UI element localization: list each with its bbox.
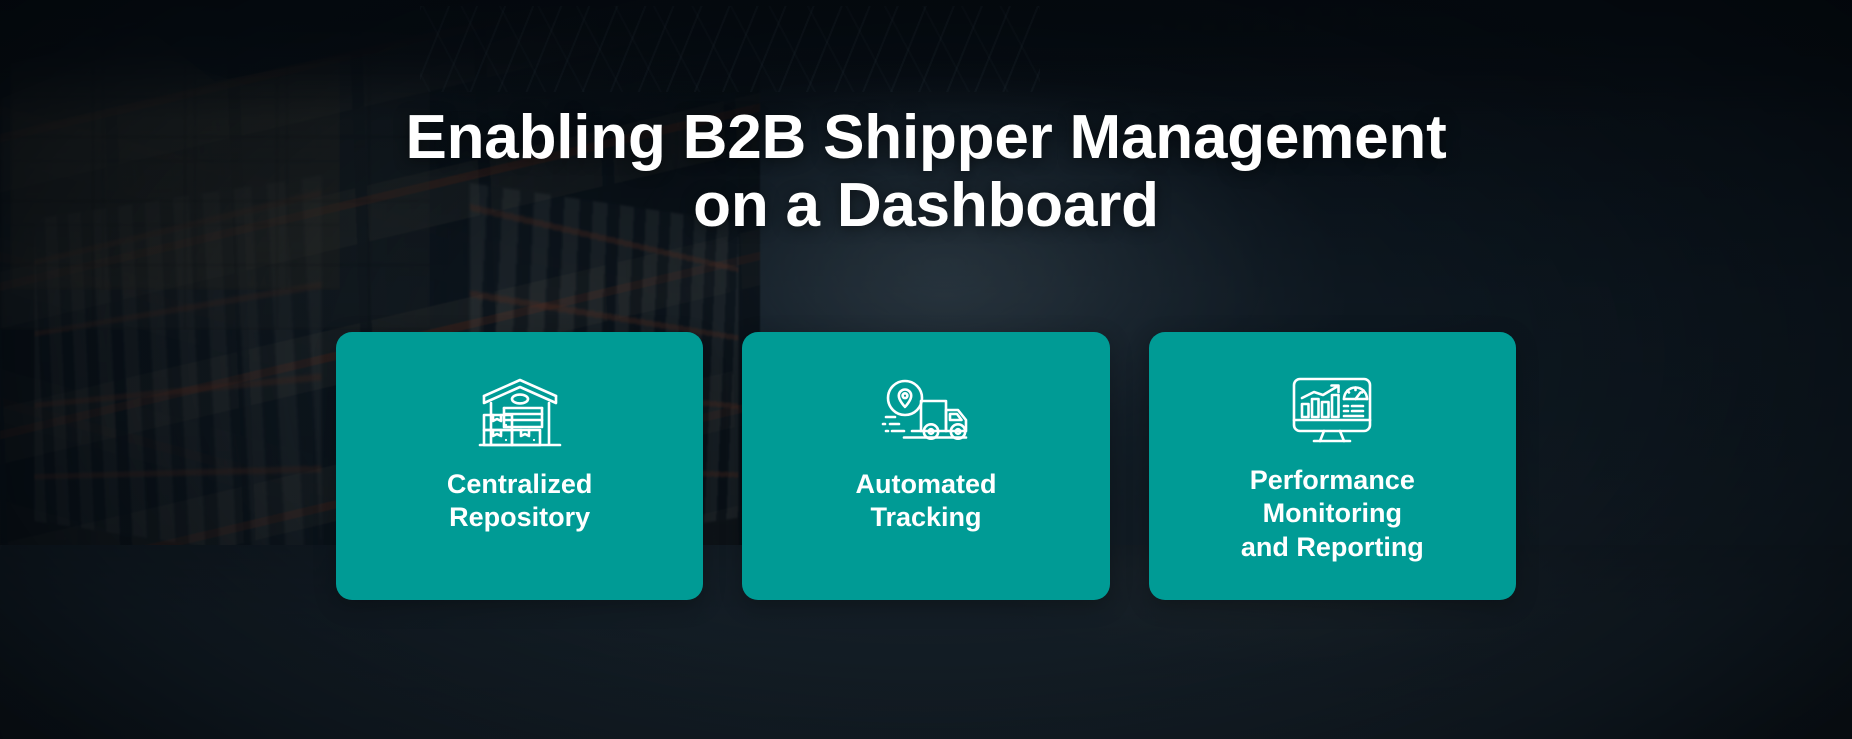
page-title-line-2: on a Dashboard	[0, 172, 1852, 240]
page-title: Enabling B2B Shipper Management on a Das…	[0, 104, 1852, 240]
hero-banner: Enabling B2B Shipper Management on a Das…	[0, 0, 1852, 739]
dashboard-monitor-analytics-icon	[1284, 370, 1380, 454]
feature-card-performance-monitoring[interactable]: Performance Monitoring and Reporting	[1149, 332, 1516, 600]
feature-card-label: Performance Monitoring and Reporting	[1227, 464, 1438, 564]
feature-card-label: Automated Tracking	[841, 468, 1010, 535]
hero-content: Enabling B2B Shipper Management on a Das…	[0, 0, 1852, 739]
feature-card-automated-tracking[interactable]: Automated Tracking	[742, 332, 1109, 600]
feature-card-list: Centralized Repository	[336, 332, 1516, 600]
delivery-truck-location-pin-icon	[878, 370, 974, 454]
feature-card-centralized-repository[interactable]: Centralized Repository	[336, 332, 703, 600]
page-title-line-1: Enabling B2B Shipper Management	[0, 104, 1852, 172]
warehouse-boxes-icon	[472, 370, 568, 454]
feature-card-label: Centralized Repository	[433, 468, 607, 535]
